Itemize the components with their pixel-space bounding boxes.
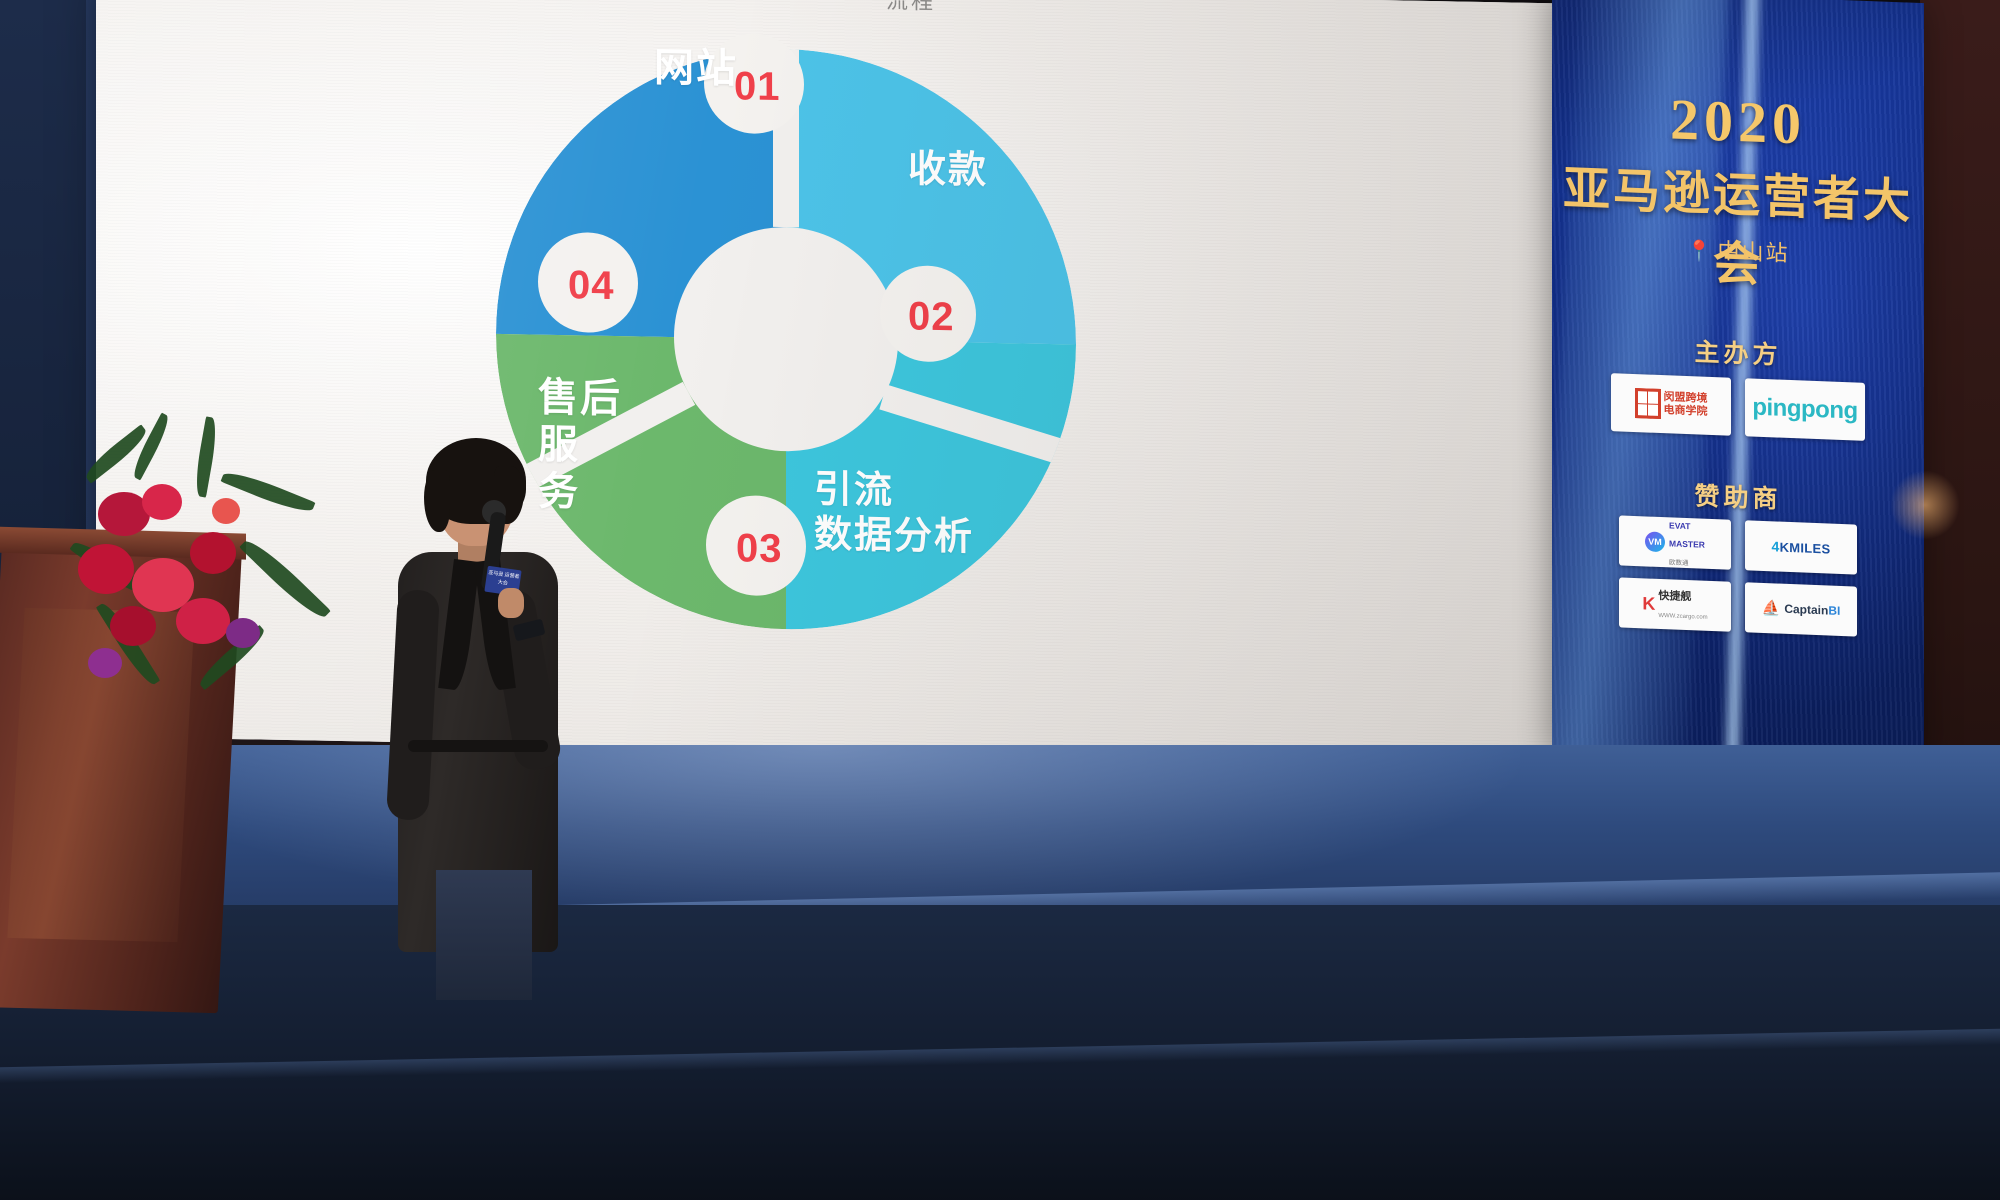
- banner-title: 亚马逊运营者大会: [1552, 149, 1924, 301]
- speaker-hair-left: [424, 470, 450, 532]
- sponsor-logo-row-2: K 快捷舰 WWW.zcargo.com ⛵ CaptainBI: [1619, 577, 1857, 636]
- seal-icon: [1635, 388, 1661, 419]
- organizer-logo-minmeng: 闵盟跨境 电商学院: [1611, 373, 1731, 436]
- vm-icon: VM: [1645, 531, 1665, 552]
- flower-arrangement: [70, 440, 360, 740]
- sponsor-logo-captainbi: ⛵ CaptainBI: [1745, 582, 1857, 636]
- captainbi-wordmark: CaptainBI: [1784, 602, 1840, 618]
- organizer-logo-pingpong: pingpong: [1745, 378, 1865, 441]
- map-pin-icon: 📍: [1687, 240, 1714, 263]
- organizer-logo-text: 闵盟跨境 电商学院: [1664, 391, 1708, 419]
- organizer-heading: 主办方: [1552, 327, 1924, 377]
- sponsor-logo-4kmiles: 4KMILES: [1745, 520, 1857, 574]
- pingpong-wordmark: pingpong: [1752, 394, 1857, 426]
- fourkmiles-prefix: 4: [1771, 538, 1779, 554]
- evat-line2: MASTER: [1669, 538, 1705, 549]
- kuaijiejian-url: WWW.zcargo.com: [1658, 613, 1707, 621]
- banner-content: 2020 亚马逊运营者大会 📍中山站 主办方 闵盟跨境 电商学院: [1552, 0, 1924, 773]
- organizer-logo-row: 闵盟跨境 电商学院 pingpong: [1611, 373, 1865, 441]
- banner-year: 2020: [1552, 81, 1924, 162]
- stage-scene: 流程: [0, 0, 2000, 1200]
- ship-icon: ⛵: [1762, 599, 1781, 618]
- speaker-jeans: [436, 870, 532, 1000]
- warm-spotlight: [1890, 470, 1960, 540]
- sponsor-logo-row-1: VM EVAT MASTER 欧数通 4KMILES: [1619, 515, 1857, 574]
- event-banner: 2020 亚马逊运营者大会 📍中山站 主办方 闵盟跨境 电商学院: [1552, 0, 1924, 773]
- captainbi-line2: BI: [1828, 603, 1840, 617]
- speaker-belt: [408, 740, 548, 752]
- sponsor-heading: 赞助商: [1552, 471, 1924, 521]
- speaker-hand: [498, 588, 524, 618]
- evat-line3: 欧数通: [1669, 559, 1689, 567]
- evat-line1: EVAT: [1669, 520, 1690, 531]
- sponsor-logo-kuaijiejian: K 快捷舰 WWW.zcargo.com: [1619, 577, 1731, 631]
- sponsor-logo-evatmaster: VM EVAT MASTER 欧数通: [1619, 515, 1731, 569]
- captainbi-line1: Captain: [1784, 602, 1828, 618]
- speaker-person: 亚马逊 运营者大会: [390, 440, 590, 960]
- organizer-line2: 电商学院: [1664, 403, 1708, 418]
- fourkmiles-rest: KMILES: [1780, 540, 1831, 557]
- banner-location-text: 中山站: [1717, 238, 1789, 266]
- k-icon: K: [1642, 593, 1655, 614]
- kuaijiejian-name: 快捷舰: [1658, 590, 1691, 603]
